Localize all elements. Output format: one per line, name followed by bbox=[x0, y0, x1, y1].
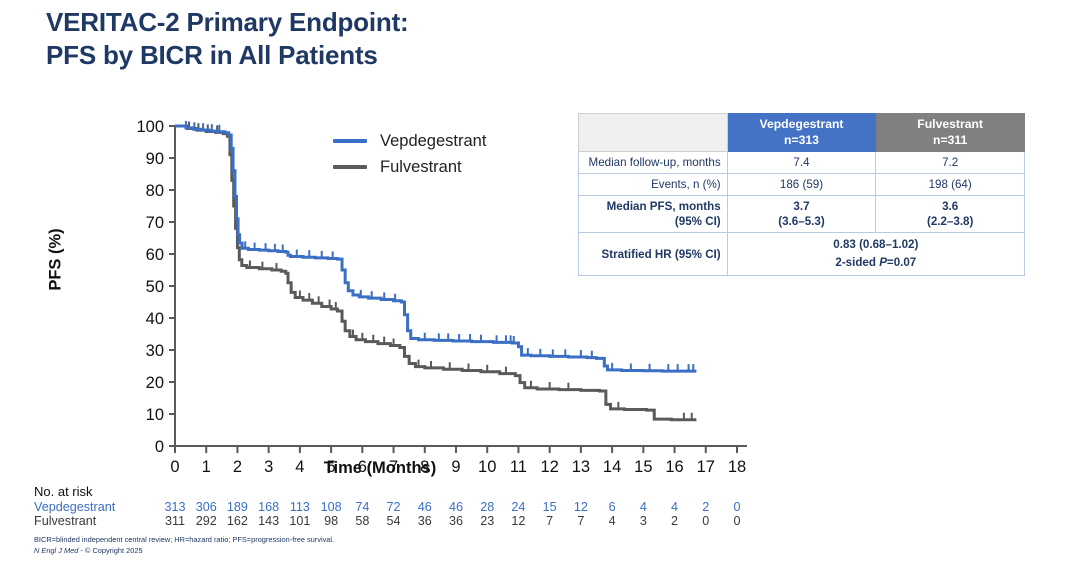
header-name-vepdegestrant: Vepdegestrant bbox=[759, 117, 843, 131]
risk-cell: 24 bbox=[503, 500, 533, 514]
legend-item-fulvestrant: Fulvestrant bbox=[333, 154, 486, 180]
table-row: Median follow-up, months 7.4 7.2 bbox=[579, 152, 1025, 174]
row-label-stratified-hr: Stratified HR (95% CI) bbox=[579, 233, 728, 276]
risk-cell: 101 bbox=[285, 514, 315, 528]
risk-cell: 15 bbox=[535, 500, 565, 514]
chart-legend: Vepdegestrant Fulvestrant bbox=[333, 128, 486, 180]
p-value-symbol: P bbox=[879, 256, 887, 269]
risk-cell: 72 bbox=[379, 500, 409, 514]
risk-cell: 23 bbox=[472, 514, 502, 528]
y-tick-label: 100 bbox=[136, 118, 164, 136]
p-value-prefix: 2-sided bbox=[835, 256, 879, 269]
risk-cell: 74 bbox=[347, 500, 377, 514]
risk-cell: 306 bbox=[191, 500, 221, 514]
legend-swatch-fulvestrant bbox=[333, 165, 367, 169]
slide-root: VERITAC-2 Primary Endpoint: PFS by BICR … bbox=[0, 0, 1080, 563]
table-row: Median PFS, months (95% CI) 3.7 (3.6–5.3… bbox=[579, 196, 1025, 233]
y-tick-label: 70 bbox=[146, 214, 164, 232]
row-label-median-followup: Median follow-up, months bbox=[579, 152, 728, 174]
x-axis-title: Time (Months) bbox=[0, 459, 760, 478]
y-tick-label: 40 bbox=[146, 310, 164, 328]
risk-cell: 108 bbox=[316, 500, 346, 514]
risk-cell: 311 bbox=[160, 514, 190, 528]
risk-cell: 12 bbox=[503, 514, 533, 528]
y-tick-label: 30 bbox=[146, 342, 164, 360]
risk-cell: 292 bbox=[191, 514, 221, 528]
p-value-line: 2-sided P=0.07 bbox=[835, 256, 916, 269]
risk-cell: 113 bbox=[285, 500, 315, 514]
risk-cell: 0 bbox=[722, 500, 752, 514]
risk-cell: 4 bbox=[628, 500, 658, 514]
cell-events-fulvestrant: 198 (64) bbox=[876, 174, 1025, 196]
row-label-events: Events, n (%) bbox=[579, 174, 728, 196]
risk-cell: 36 bbox=[441, 514, 471, 528]
table-row-hazard-ratio: Stratified HR (95% CI) 0.83 (0.68–1.02) … bbox=[579, 233, 1025, 276]
cell-median-followup-fulvestrant: 7.2 bbox=[876, 152, 1025, 174]
risk-cell: 4 bbox=[660, 500, 690, 514]
legend-swatch-vepdegestrant bbox=[333, 139, 367, 143]
footnote-copyright: N Engl J Med - © Copyright 2025 bbox=[34, 546, 143, 555]
cell-events-vepdegestrant: 186 (59) bbox=[727, 174, 876, 196]
risk-cell: 2 bbox=[691, 500, 721, 514]
risk-cell: 12 bbox=[566, 500, 596, 514]
risk-cell: 0 bbox=[691, 514, 721, 528]
risk-cell: 143 bbox=[254, 514, 284, 528]
table-header-row: Vepdegestrant n=313 Fulvestrant n=311 bbox=[579, 114, 1025, 152]
risk-cell: 36 bbox=[410, 514, 440, 528]
header-n-fulvestrant: n=311 bbox=[933, 133, 967, 147]
y-tick-label: 0 bbox=[155, 438, 164, 456]
risk-cell: 98 bbox=[316, 514, 346, 528]
risk-cell: 3 bbox=[628, 514, 658, 528]
journal-name: N Engl J Med bbox=[34, 546, 78, 555]
risk-row-name-fulvestrant: Fulvestrant bbox=[34, 514, 154, 528]
legend-label-vepdegestrant: Vepdegestrant bbox=[380, 132, 486, 151]
hr-value: 0.83 (0.68–1.02) bbox=[833, 238, 918, 251]
risk-table-title: No. at risk bbox=[34, 484, 93, 499]
risk-cell: 7 bbox=[566, 514, 596, 528]
risk-cell: 0 bbox=[722, 514, 752, 528]
legend-label-fulvestrant: Fulvestrant bbox=[380, 158, 462, 177]
summary-statistics-table: Vepdegestrant n=313 Fulvestrant n=311 Me… bbox=[578, 113, 1025, 276]
table-header-blank bbox=[579, 114, 728, 152]
risk-cell: 54 bbox=[379, 514, 409, 528]
cell-median-followup-vepdegestrant: 7.4 bbox=[727, 152, 876, 174]
table-header-vepdegestrant: Vepdegestrant n=313 bbox=[727, 114, 876, 152]
table-header-fulvestrant: Fulvestrant n=311 bbox=[876, 114, 1025, 152]
footnote-abbreviations: BICR=blinded independent central review;… bbox=[34, 535, 334, 544]
y-tick-label: 20 bbox=[146, 374, 164, 392]
risk-cell: 46 bbox=[441, 500, 471, 514]
header-name-fulvestrant: Fulvestrant bbox=[917, 117, 983, 131]
cell-median-pfs-vepdegestrant: 3.7 (3.6–5.3) bbox=[727, 196, 876, 233]
risk-cell: 189 bbox=[222, 500, 252, 514]
cell-median-pfs-fulvestrant: 3.6 (2.2–3.8) bbox=[876, 196, 1025, 233]
risk-cell: 7 bbox=[535, 514, 565, 528]
y-axis-title: PFS (%) bbox=[47, 200, 66, 320]
p-value-suffix: =0.07 bbox=[887, 256, 916, 269]
copyright-text: - © Copyright 2025 bbox=[78, 546, 142, 555]
cell-stratified-hr-value: 0.83 (0.68–1.02) 2-sided P=0.07 bbox=[727, 233, 1024, 276]
risk-cell: 58 bbox=[347, 514, 377, 528]
legend-item-vepdegestrant: Vepdegestrant bbox=[333, 128, 486, 154]
risk-cell: 162 bbox=[222, 514, 252, 528]
risk-row-name-vepdegestrant: Vepdegestrant bbox=[34, 500, 154, 514]
y-tick-label: 10 bbox=[146, 406, 164, 424]
risk-cell: 28 bbox=[472, 500, 502, 514]
risk-cell: 46 bbox=[410, 500, 440, 514]
risk-cell: 6 bbox=[597, 500, 627, 514]
risk-cell: 4 bbox=[597, 514, 627, 528]
y-tick-label: 80 bbox=[146, 182, 164, 200]
risk-cell: 168 bbox=[254, 500, 284, 514]
y-tick-label: 60 bbox=[146, 246, 164, 264]
header-n-vepdegestrant: n=313 bbox=[784, 133, 819, 147]
y-tick-label: 50 bbox=[146, 278, 164, 296]
row-label-median-pfs: Median PFS, months (95% CI) bbox=[579, 196, 728, 233]
table-row: Events, n (%) 186 (59) 198 (64) bbox=[579, 174, 1025, 196]
risk-cell: 313 bbox=[160, 500, 190, 514]
kaplan-meier-chart: 0102030405060708090100012345678910111213… bbox=[0, 0, 1080, 563]
y-tick-label: 90 bbox=[146, 150, 164, 168]
risk-cell: 2 bbox=[660, 514, 690, 528]
